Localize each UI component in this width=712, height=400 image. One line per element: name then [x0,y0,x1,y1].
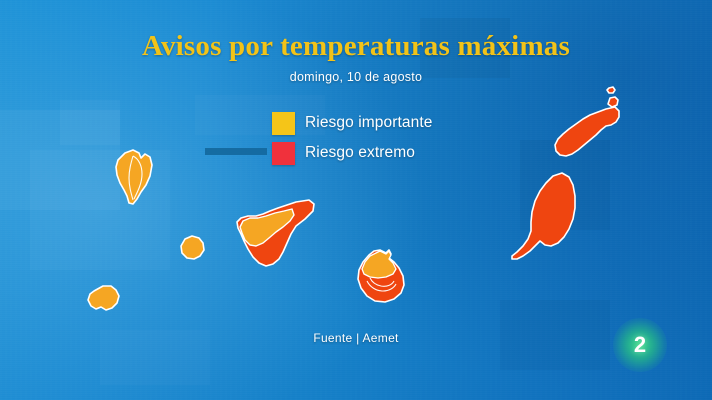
island-la-graciosa [608,97,618,107]
source-credit: Fuente | Aemet [0,331,712,345]
island-fuerteventura [512,173,575,259]
island-tenerife [237,200,314,266]
island-lanzarote [555,107,619,156]
island-la-palma [116,150,152,204]
island-la-gomera [181,236,204,259]
island-alegranza [607,87,615,93]
channel-logo: 2 [622,327,658,363]
island-gran-canaria [358,250,404,302]
island-el-hierro [88,286,119,310]
channel-number: 2 [634,334,646,356]
weather-graphic: Avisos por temperaturas máximas domingo,… [0,0,712,400]
